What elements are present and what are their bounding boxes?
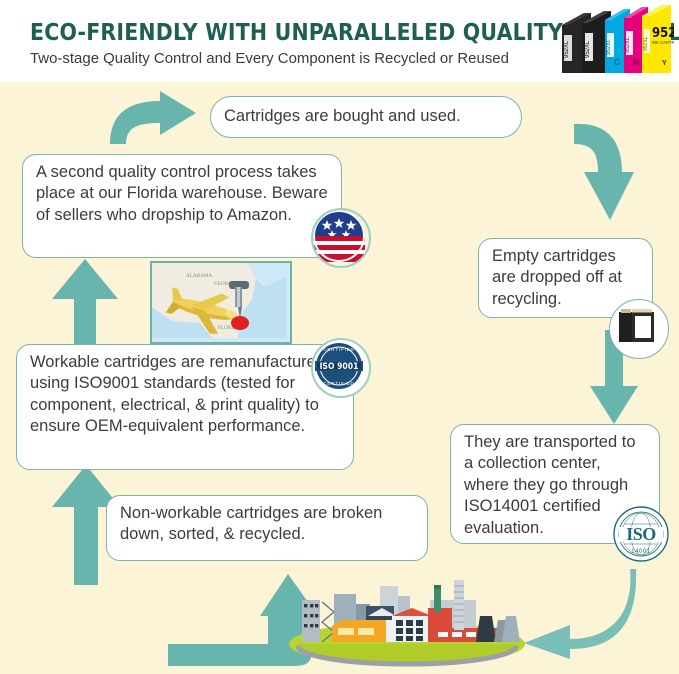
step-second-quality-control-text: A second quality control process takes p… (36, 163, 328, 224)
flow-panel: Cartridges are bought and used. A second… (0, 82, 679, 674)
step-non-workable-text: Non-workable cartridges are broken down,… (120, 504, 382, 543)
svg-text:M: M (633, 58, 640, 67)
svg-text:952XL: 952XL (625, 37, 631, 53)
svg-text:Y: Y (662, 60, 667, 67)
header: ECO-FRIENDLY WITH UNPARALLELED QUALITY C… (0, 0, 679, 82)
svg-text:952XL: 952XL (564, 40, 570, 58)
step-cartridges-bought-text: Cartridges are bought and used. (224, 106, 461, 127)
arrow-to-cartridges-bought (106, 87, 202, 149)
page-title: ECO-FRIENDLY WITH UNPARALLELED QUALITY C… (30, 18, 554, 46)
ink-cartridge-set-image: 952XL 952XL 952XL C (558, 3, 674, 75)
step-workable-remanufactured-text: Workable cartridges are remanufactured u… (30, 353, 325, 435)
florida-map-airplane-image: ALABAMA GEORGIA FLORIDA (150, 261, 292, 344)
iso-14001-label: ISO (626, 524, 656, 544)
iso-14001-sub-label: 14001 (631, 549, 651, 555)
svg-text:ALABAMA: ALABAMA (186, 273, 212, 279)
svg-text:952XL: 952XL (606, 39, 612, 55)
usa-flag-badge (311, 208, 371, 268)
step-transported-collection-text: They are transported to a collection cen… (464, 433, 636, 537)
infographic-root: ECO-FRIENDLY WITH UNPARALLELED QUALITY C… (0, 0, 679, 674)
iso-9001-arc-top: CERTIFIED (323, 347, 354, 352)
step-non-workable: Non-workable cartridges are broken down,… (106, 495, 428, 561)
step-workable-remanufactured: Workable cartridges are remanufactured u… (16, 344, 354, 470)
iso-14001-certified-badge: ISO 14001 (613, 506, 669, 562)
step-empty-dropped-off-text: Empty cartridges are dropped off at recy… (492, 247, 622, 308)
step-second-quality-control: A second quality control process takes p… (22, 154, 342, 258)
empty-cartridge-icon (609, 299, 669, 359)
svg-text:952XL: 952XL (643, 36, 649, 51)
page-subtitle: Two-stage Quality Control and Every Comp… (30, 50, 567, 67)
svg-text:C: C (614, 58, 620, 67)
factory-recycling-center-illustration (282, 572, 532, 667)
arrow-to-empty-dropped-off (572, 110, 650, 228)
arrow-to-second-quality-control (48, 257, 122, 357)
iso-9001-label: ISO 9001 (320, 362, 359, 372)
iso-9001-certified-badge: ISO 9001 CERTIFIED CERTIFIED (311, 338, 371, 398)
svg-text:952XL: 952XL (585, 40, 591, 58)
svg-text:952XL: 952XL (652, 26, 674, 41)
svg-text:INK CARTRIDGE: INK CARTRIDGE (652, 40, 674, 45)
iso-9001-arc-bottom: CERTIFIED (323, 381, 354, 386)
cartridge-set-svg: 952XL 952XL 952XL C (558, 3, 674, 81)
step-cartridges-bought: Cartridges are bought and used. (210, 96, 522, 138)
arrow-to-factory (518, 567, 638, 659)
